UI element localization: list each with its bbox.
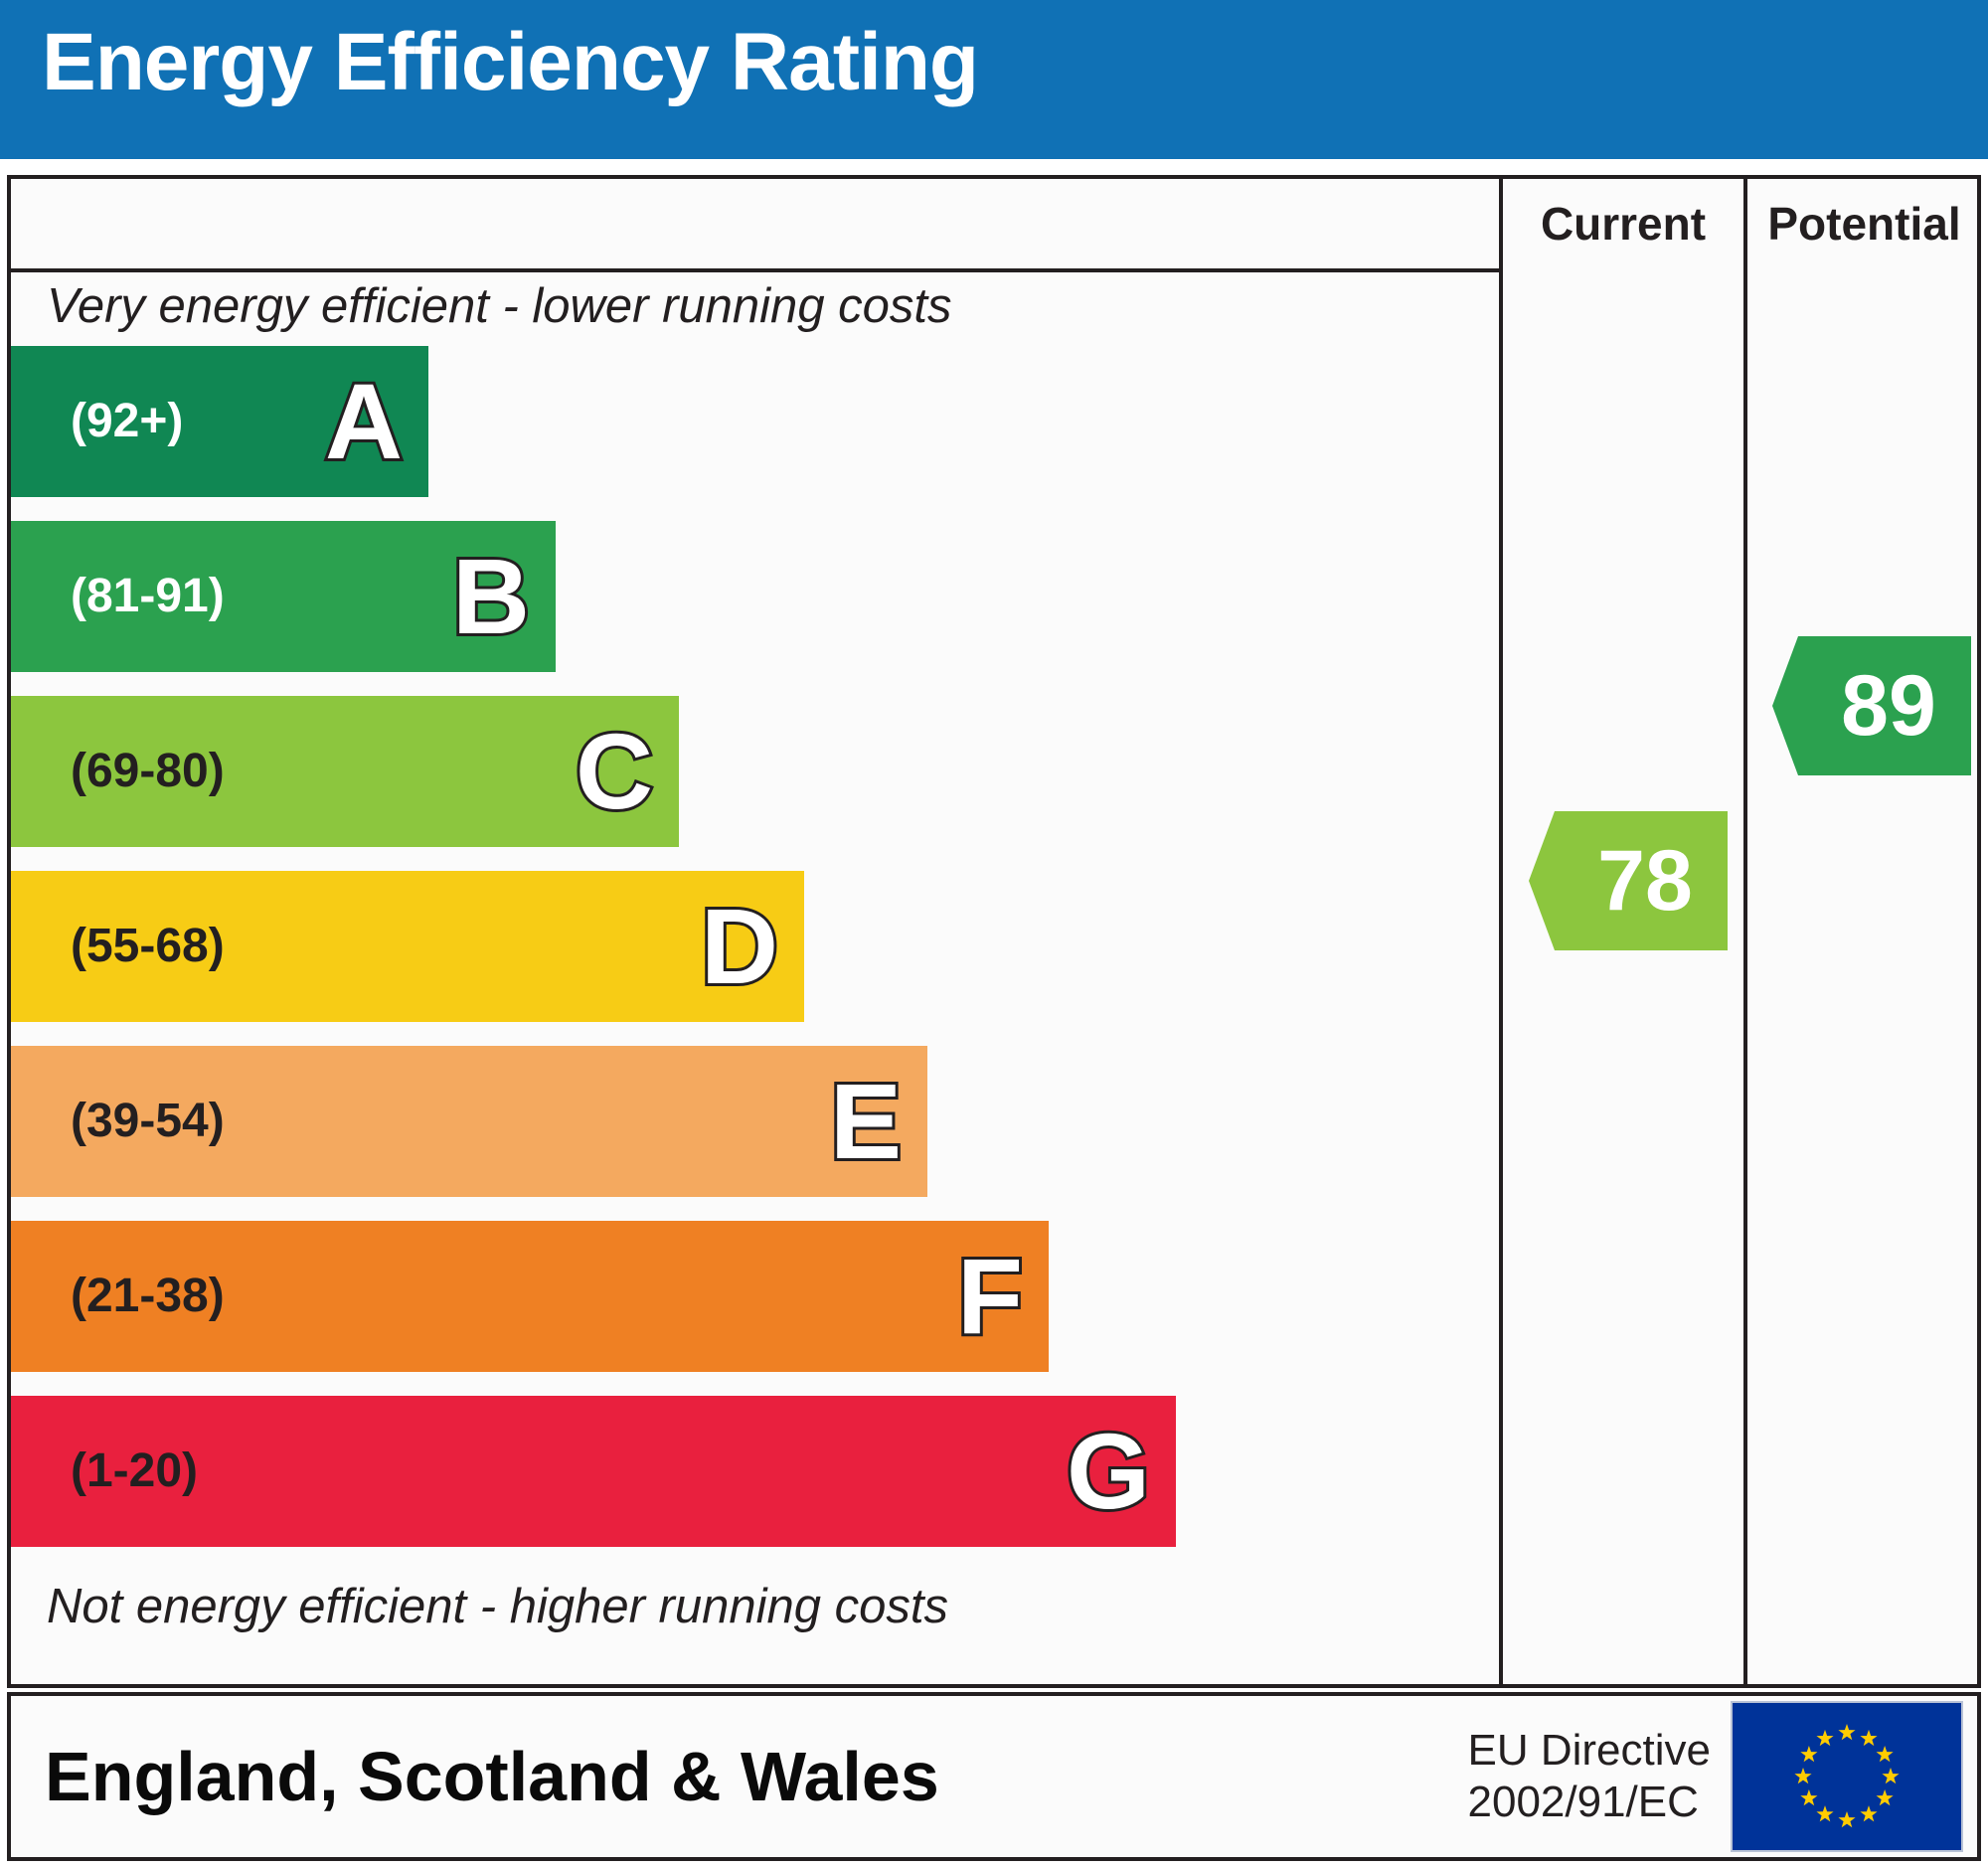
band-e: (39-54) E	[11, 1046, 927, 1197]
current-rating-arrow: 78	[1529, 811, 1728, 950]
band-d-letter: D	[701, 893, 778, 1000]
band-f: (21-38) F	[11, 1221, 1049, 1372]
band-a: (92+) A	[11, 346, 428, 497]
band-g-letter: G	[1067, 1418, 1150, 1525]
band-d-range: (55-68)	[71, 923, 225, 970]
chart-header-bar: Energy Efficiency Rating	[0, 0, 1988, 159]
header-row-divider	[11, 268, 1499, 272]
band-c-range: (69-80)	[71, 748, 225, 795]
band-f-range: (21-38)	[71, 1273, 225, 1320]
column-divider-potential	[1743, 179, 1747, 1684]
chart-footer: England, Scotland & Wales EU Directive 2…	[7, 1692, 1981, 1861]
band-c-letter: C	[576, 718, 653, 825]
eu-flag-icon	[1731, 1701, 1963, 1852]
band-f-letter: F	[957, 1243, 1023, 1350]
band-d: (55-68) D	[11, 871, 804, 1022]
eu-directive-label: EU Directive 2002/91/EC	[1468, 1725, 1712, 1828]
region-label: England, Scotland & Wales	[45, 1737, 939, 1816]
column-header-potential: Potential	[1747, 179, 1981, 268]
page-title: Energy Efficiency Rating	[42, 22, 978, 103]
band-a-range: (92+)	[71, 398, 183, 445]
column-header-current: Current	[1503, 179, 1743, 268]
caption-very-efficient: Very energy efficient - lower running co…	[47, 278, 952, 334]
band-b: (81-91) B	[11, 521, 556, 672]
current-rating-value: 78	[1564, 838, 1693, 924]
eu-directive-line2: 2002/91/EC	[1468, 1777, 1712, 1828]
potential-rating-arrow: 89	[1772, 636, 1971, 775]
band-g-range: (1-20)	[71, 1447, 198, 1495]
band-a-letter: A	[325, 368, 403, 475]
rating-bands: (92+) A (81-91) B (69-80) C (55-68) D (3…	[11, 346, 1499, 1571]
caption-not-efficient: Not energy efficient - higher running co…	[47, 1579, 948, 1634]
band-b-letter: B	[452, 543, 530, 650]
band-e-range: (39-54)	[71, 1098, 225, 1145]
potential-rating-value: 89	[1807, 663, 1936, 749]
eu-directive-line1: EU Directive	[1468, 1725, 1712, 1777]
band-g: (1-20) G	[11, 1396, 1176, 1547]
band-b-range: (81-91)	[71, 573, 225, 620]
band-e-letter: E	[830, 1068, 902, 1175]
eu-flag-stars-icon	[1733, 1703, 1961, 1850]
rating-table: Current Potential Very energy efficient …	[7, 175, 1981, 1688]
band-c: (69-80) C	[11, 696, 679, 847]
column-divider-current	[1499, 179, 1503, 1684]
energy-efficiency-rating-chart: Energy Efficiency Rating Current Potenti…	[0, 0, 1988, 1867]
